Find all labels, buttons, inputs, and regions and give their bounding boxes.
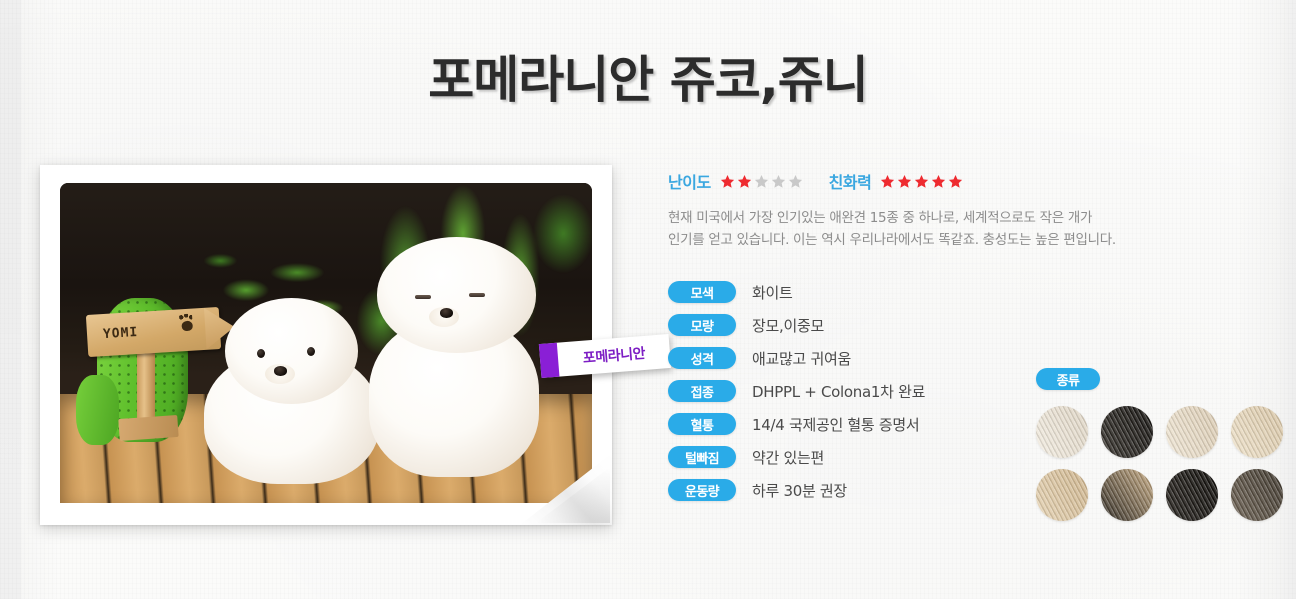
rating-difficulty: 난이도 bbox=[668, 169, 803, 193]
star-icon bbox=[880, 174, 895, 189]
attribute-value: 화이트 bbox=[752, 282, 793, 303]
swatch-cream-white[interactable] bbox=[1036, 406, 1088, 458]
attribute-label-badge: 혈통 bbox=[668, 413, 736, 435]
attribute-label-badge: 모량 bbox=[668, 314, 736, 336]
star-icon bbox=[897, 174, 912, 189]
yomi-sign: YOMI bbox=[85, 307, 220, 357]
swatch-tan-cream[interactable] bbox=[1036, 469, 1088, 521]
star-icon bbox=[931, 174, 946, 189]
puppy-right-eye-l bbox=[415, 295, 431, 299]
fur-texture bbox=[1231, 406, 1283, 458]
puppy-left-eye-r bbox=[307, 347, 315, 356]
rating-friendliness: 친화력 bbox=[829, 169, 964, 193]
attribute-label-badge: 성격 bbox=[668, 347, 736, 369]
star-icon bbox=[788, 174, 803, 189]
puppy-right-nose bbox=[440, 308, 453, 318]
signpost-base bbox=[118, 415, 178, 441]
puppy-left-nose bbox=[274, 366, 287, 376]
photo-card[interactable]: YOMI bbox=[40, 165, 612, 525]
coat-swatch-grid bbox=[1036, 406, 1266, 523]
signpost bbox=[137, 343, 155, 426]
breed-description-line-2: 인기를 얻고 있습니다. 이는 역시 우리나라에서도 똑같죠. 충성도는 높은 … bbox=[668, 230, 1268, 252]
attribute-value: 애교많고 귀여움 bbox=[752, 348, 851, 369]
paw-print-icon bbox=[181, 321, 193, 332]
rating-friendliness-label: 친화력 bbox=[829, 169, 872, 193]
rating-friendliness-stars bbox=[880, 174, 963, 189]
attribute-row: 모량장모,이중모 bbox=[668, 309, 1268, 342]
puppy-left-head bbox=[225, 298, 358, 404]
swatch-black[interactable] bbox=[1166, 469, 1218, 521]
ratings-row: 난이도 친화력 bbox=[668, 168, 1268, 194]
star-icon bbox=[754, 174, 769, 189]
attribute-row: 모색화이트 bbox=[668, 276, 1268, 309]
attribute-value: 장모,이중모 bbox=[752, 315, 824, 336]
rating-difficulty-stars bbox=[720, 174, 803, 189]
rating-difficulty-label: 난이도 bbox=[668, 169, 711, 193]
swatch-light-cream[interactable] bbox=[1166, 406, 1218, 458]
page-root: 포메라니안 쥬코,쥬니 YOMI bbox=[0, 0, 1296, 599]
star-icon bbox=[771, 174, 786, 189]
star-icon bbox=[720, 174, 735, 189]
page-title: 포메라니안 쥬코,쥬니 bbox=[0, 40, 1296, 112]
coat-types-section: 종류 bbox=[1036, 368, 1266, 523]
puppy-right-eye-r bbox=[469, 293, 485, 297]
fur-texture bbox=[1166, 406, 1218, 458]
attribute-value: 14/4 국제공인 혈통 증명서 bbox=[752, 414, 919, 435]
fur-texture bbox=[1101, 406, 1153, 458]
star-icon bbox=[948, 174, 963, 189]
swatch-sable-grey[interactable] bbox=[1231, 469, 1283, 521]
puppy-left-eye-l bbox=[257, 349, 265, 358]
yomi-sign-text: YOMI bbox=[86, 325, 138, 343]
star-icon bbox=[737, 174, 752, 189]
puppy-right-head bbox=[377, 237, 537, 352]
fur-texture bbox=[1166, 469, 1218, 521]
swatch-black-silver[interactable] bbox=[1101, 406, 1153, 458]
attribute-value: 하루 30분 권장 bbox=[752, 480, 847, 501]
star-icon bbox=[914, 174, 929, 189]
swatch-black-tan[interactable] bbox=[1101, 469, 1153, 521]
attribute-label-badge: 털빠짐 bbox=[668, 446, 736, 468]
fur-texture bbox=[1036, 406, 1088, 458]
cactus-arm bbox=[76, 375, 119, 445]
attribute-label-badge: 운동량 bbox=[668, 479, 736, 501]
fur-texture bbox=[1101, 469, 1153, 521]
coat-types-badge: 종류 bbox=[1036, 368, 1100, 390]
breed-description-line-1: 현재 미국에서 가장 인기있는 애완견 15종 중 하나로, 세계적으로도 작은… bbox=[668, 208, 1268, 230]
fur-texture bbox=[1231, 469, 1283, 521]
attribute-value: 약간 있는편 bbox=[752, 447, 824, 468]
attribute-label-badge: 접종 bbox=[668, 380, 736, 402]
swatch-pale-gold[interactable] bbox=[1231, 406, 1283, 458]
attribute-value: DHPPL + Colona1차 완료 bbox=[752, 381, 925, 402]
fur-texture bbox=[1036, 469, 1088, 521]
attribute-label-badge: 모색 bbox=[668, 281, 736, 303]
breed-tag-accent-bar bbox=[539, 343, 560, 378]
breed-tag-label: 포메라니안 bbox=[557, 341, 670, 370]
puppy-photo: YOMI bbox=[60, 183, 592, 503]
breed-description: 현재 미국에서 가장 인기있는 애완견 15종 중 하나로, 세계적으로도 작은… bbox=[668, 208, 1268, 252]
